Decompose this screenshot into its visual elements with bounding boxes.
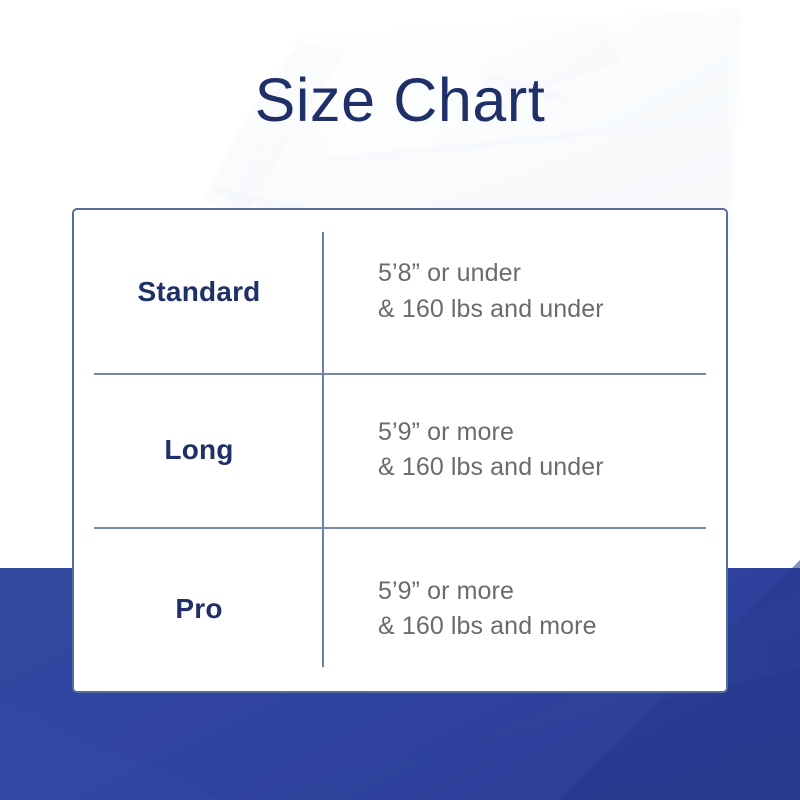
size-chart-poster: Size Chart Standard 5’8” or under & 160 …	[0, 0, 800, 800]
criteria-line: 5’9” or more	[378, 574, 726, 610]
criteria-cell: 5’9” or more & 160 lbs and more	[324, 574, 726, 645]
size-chart-card: Standard 5’8” or under & 160 lbs and und…	[72, 208, 728, 693]
table-row: Pro 5’9” or more & 160 lbs and more	[74, 527, 726, 691]
size-label: Pro	[74, 593, 324, 625]
table-row: Long 5’9” or more & 160 lbs and under	[74, 373, 726, 527]
size-chart-table: Standard 5’8” or under & 160 lbs and und…	[74, 210, 726, 691]
table-row: Standard 5’8” or under & 160 lbs and und…	[74, 210, 726, 373]
criteria-line: & 160 lbs and more	[378, 609, 726, 645]
criteria-line: 5’8” or under	[378, 256, 726, 292]
page-title: Size Chart	[0, 68, 800, 132]
size-label: Long	[74, 434, 324, 466]
criteria-cell: 5’8” or under & 160 lbs and under	[324, 256, 726, 327]
criteria-line: & 160 lbs and under	[378, 450, 726, 486]
criteria-line: & 160 lbs and under	[378, 292, 726, 328]
criteria-line: 5’9” or more	[378, 415, 726, 451]
size-label: Standard	[74, 276, 324, 308]
criteria-cell: 5’9” or more & 160 lbs and under	[324, 415, 726, 486]
